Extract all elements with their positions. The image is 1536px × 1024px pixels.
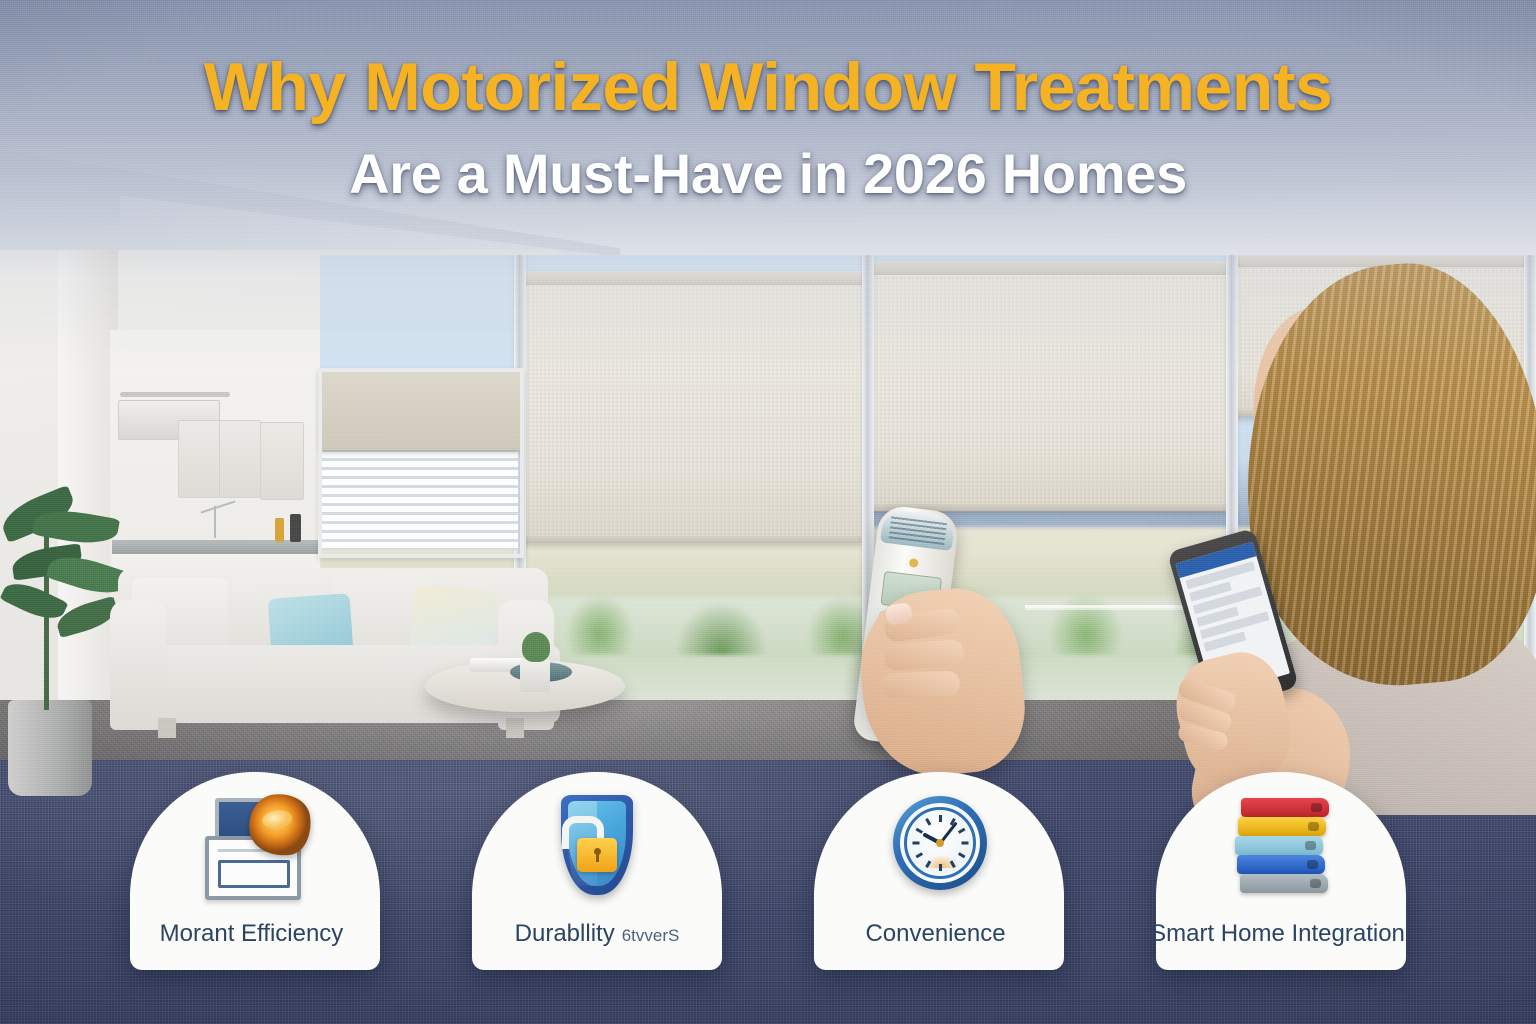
book [1235, 836, 1323, 855]
kitchen-cabinet [260, 422, 304, 500]
kitchen-rail [120, 392, 230, 397]
remote-label [880, 508, 956, 551]
feature-label-text: Convenience [865, 920, 1005, 948]
kitchen-cabinet [178, 420, 220, 498]
bottle [275, 518, 284, 542]
book [1240, 874, 1328, 893]
small-pot [520, 658, 550, 692]
window-energy-icon [199, 794, 311, 898]
feature-card-label: Morant Efficiency [160, 920, 351, 948]
feature-card-row: Morant Efficiency Durabllity 6tvverS [0, 772, 1536, 970]
page-title: Why Motorized Window Treatments [0, 52, 1536, 123]
book [1241, 798, 1329, 817]
left-window-frame [318, 368, 524, 558]
sofa-arm [110, 600, 166, 730]
headline-block: Why Motorized Window Treatments Are a Mu… [0, 52, 1536, 206]
feature-label-text: Durabllity [515, 920, 615, 948]
finger [882, 671, 961, 699]
feature-card-energy[interactable]: Morant Efficiency [130, 772, 380, 970]
clock-icon [883, 794, 995, 898]
sofa-leg [158, 718, 176, 738]
sofa-leg [506, 718, 524, 738]
feature-card-durability[interactable]: Durabllity 6tvverS [472, 772, 722, 970]
feature-card-label: Smart Home Integration [1150, 920, 1412, 948]
book [1238, 817, 1326, 836]
roller-shade [868, 275, 1226, 511]
remote-led [909, 558, 919, 568]
kitchen-cabinet [219, 420, 261, 498]
banner-image: Why Motorized Window Treatments Are a Mu… [0, 0, 1536, 1024]
stacked-books-icon [1225, 794, 1337, 898]
feature-card-smart-home[interactable]: Smart Home Integration [1156, 772, 1406, 970]
bottle [290, 514, 301, 542]
feature-label-sub: 6tvverS [622, 926, 680, 946]
feature-card-label: Convenience [865, 920, 1012, 948]
feature-label-text: Morant Efficiency [160, 920, 344, 948]
feature-card-label: Durabllity 6tvverS [515, 920, 680, 948]
small-plant [522, 632, 550, 662]
book [1237, 855, 1325, 874]
faucet-stem [214, 506, 216, 538]
woman [1196, 255, 1536, 755]
page-subtitle: Are a Must-Have in 2026 Homes [0, 141, 1536, 206]
feature-card-convenience[interactable]: Convenience [814, 772, 1064, 970]
feature-label-text: Smart Home Integration [1150, 920, 1405, 948]
roller-shade [520, 285, 862, 543]
shield-lock-icon [541, 794, 653, 898]
